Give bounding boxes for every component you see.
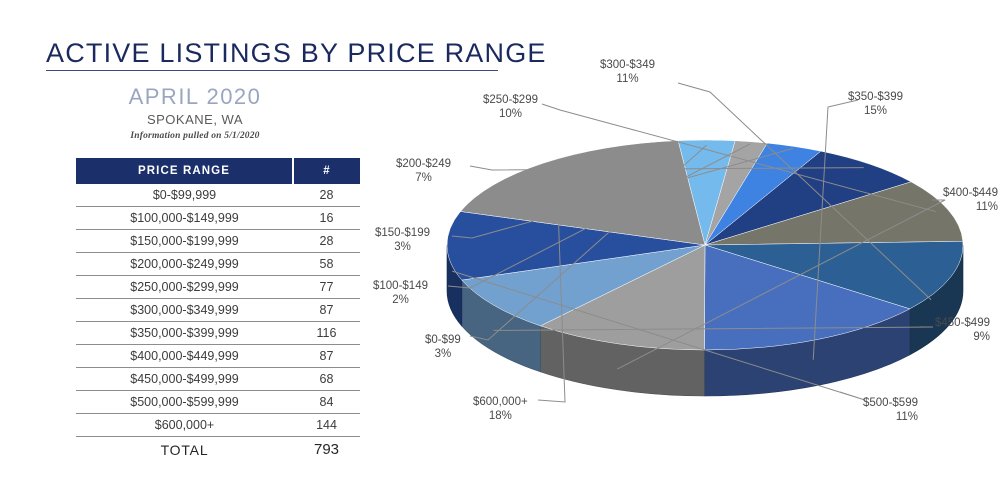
pie-label-400-449-name: $400-$449: [943, 187, 998, 199]
table-row: $100,000-$149,99916: [76, 207, 360, 230]
pie-label-250-299-pct: 10%: [483, 107, 538, 121]
pie-label-250-299-name: $250-$299: [483, 94, 538, 106]
cell-count: 16: [293, 207, 360, 230]
cell-price-range: $600,000+: [76, 414, 293, 437]
cell-count: 68: [293, 368, 360, 391]
cell-count: 144: [293, 414, 360, 437]
pie-label-350-399: $350-$399 15%: [848, 90, 903, 119]
cell-price-range: $350,000-$399,999: [76, 322, 293, 345]
pie-label-450-499-pct: 9%: [935, 330, 990, 344]
pie-label-0-99-pct: 3%: [425, 347, 461, 361]
table-row: $450,000-$499,99968: [76, 368, 360, 391]
pie-label-400-449-pct: 11%: [943, 200, 998, 214]
table-row: $300,000-$349,99987: [76, 299, 360, 322]
cell-count: 28: [293, 230, 360, 253]
pie-label-450-499-name: $450-$499: [935, 317, 990, 329]
cell-count: 58: [293, 253, 360, 276]
table-row: $600,000+144: [76, 414, 360, 437]
cell-count: 87: [293, 345, 360, 368]
pie-label-400-449: $400-$449 11%: [943, 186, 998, 215]
table-header-row: PRICE RANGE #: [76, 158, 360, 184]
pie-label-350-399-name: $350-$399: [848, 91, 903, 103]
pie-label-350-399-pct: 15%: [848, 104, 903, 118]
table-body: $0-$99,99928$100,000-$149,99916$150,000-…: [76, 184, 360, 462]
left-panel: ACTIVE LISTINGS BY PRICE RANGE APRIL 202…: [0, 0, 400, 480]
table-head: PRICE RANGE #: [76, 158, 360, 184]
table-row: $500,000-$599,99984: [76, 391, 360, 414]
cell-price-range: $100,000-$149,999: [76, 207, 293, 230]
cell-count: 116: [293, 322, 360, 345]
pie-label-600000plus-pct: 18%: [473, 409, 528, 423]
data-pulled-note: Information pulled on 5/1/2020: [0, 131, 390, 141]
cell-price-range: $250,000-$299,999: [76, 276, 293, 299]
pie-top-faces: [447, 140, 963, 350]
pie-label-600000plus: $600,000+ 18%: [473, 395, 528, 424]
table-row: $400,000-$449,99987: [76, 345, 360, 368]
cell-price-range: $400,000-$449,999: [76, 345, 293, 368]
pie-label-200-249: $200-$249 7%: [396, 157, 451, 186]
table-total-row: TOTAL793: [76, 437, 360, 463]
price-range-table: PRICE RANGE # $0-$99,99928$100,000-$149,…: [76, 158, 360, 462]
pie-label-300-349-pct: 11%: [600, 72, 655, 86]
pie-label-100-149-pct: 2%: [373, 293, 428, 307]
table-row: $250,000-$299,99977: [76, 276, 360, 299]
table-row: $350,000-$399,999116: [76, 322, 360, 345]
column-header-price-range: PRICE RANGE: [76, 158, 293, 184]
cell-count: 77: [293, 276, 360, 299]
infographic-root: ACTIVE LISTINGS BY PRICE RANGE APRIL 202…: [0, 0, 1000, 480]
cell-price-range: $0-$99,999: [76, 184, 293, 207]
cell-count: 28: [293, 184, 360, 207]
column-header-count: #: [293, 158, 360, 184]
table-row: $150,000-$199,99928: [76, 230, 360, 253]
cell-count: 87: [293, 299, 360, 322]
pie-label-500-599-pct: 11%: [863, 410, 918, 424]
pie-chart-area: $300-$349 11% $350-$399 15% $400-$449 11…: [360, 0, 1000, 480]
month-subtitle: APRIL 2020: [0, 84, 390, 110]
cell-total-label: TOTAL: [76, 437, 293, 463]
cell-price-range: $300,000-$349,999: [76, 299, 293, 322]
pie-label-500-599-name: $500-$599: [863, 397, 918, 409]
city-subtitle: SPOKANE, WA: [0, 112, 390, 127]
pie-label-300-349-name: $300-$349: [600, 59, 655, 71]
pie-label-300-349: $300-$349 11%: [600, 58, 655, 87]
pie-label-150-199-name: $150-$199: [375, 227, 430, 239]
table-row: $200,000-$249,99958: [76, 253, 360, 276]
cell-price-range: $500,000-$599,999: [76, 391, 293, 414]
pie-label-600000plus-name: $600,000+: [473, 396, 528, 408]
pie-label-250-299: $250-$299 10%: [483, 93, 538, 122]
cell-total-count: 793: [293, 437, 360, 463]
top-white-strip: [0, 0, 1000, 6]
pie-label-0-99: $0-$99 3%: [425, 333, 461, 362]
table-row: $0-$99,99928: [76, 184, 360, 207]
pie-label-100-149-name: $100-$149: [373, 280, 428, 292]
pie-label-200-249-name: $200-$249: [396, 158, 451, 170]
pie-label-500-599: $500-$599 11%: [863, 396, 918, 425]
cell-price-range: $150,000-$199,999: [76, 230, 293, 253]
pie-label-200-249-pct: 7%: [396, 171, 451, 185]
cell-count: 84: [293, 391, 360, 414]
pie-label-0-99-name: $0-$99: [425, 334, 461, 346]
pie-label-450-499: $450-$499 9%: [935, 316, 990, 345]
cell-price-range: $200,000-$249,999: [76, 253, 293, 276]
price-range-table-wrapper: PRICE RANGE # $0-$99,99928$100,000-$149,…: [76, 158, 358, 462]
pie-label-150-199: $150-$199 3%: [375, 226, 430, 255]
cell-price-range: $450,000-$499,999: [76, 368, 293, 391]
pie-label-100-149: $100-$149 2%: [373, 279, 428, 308]
pie-label-150-199-pct: 3%: [375, 240, 430, 254]
